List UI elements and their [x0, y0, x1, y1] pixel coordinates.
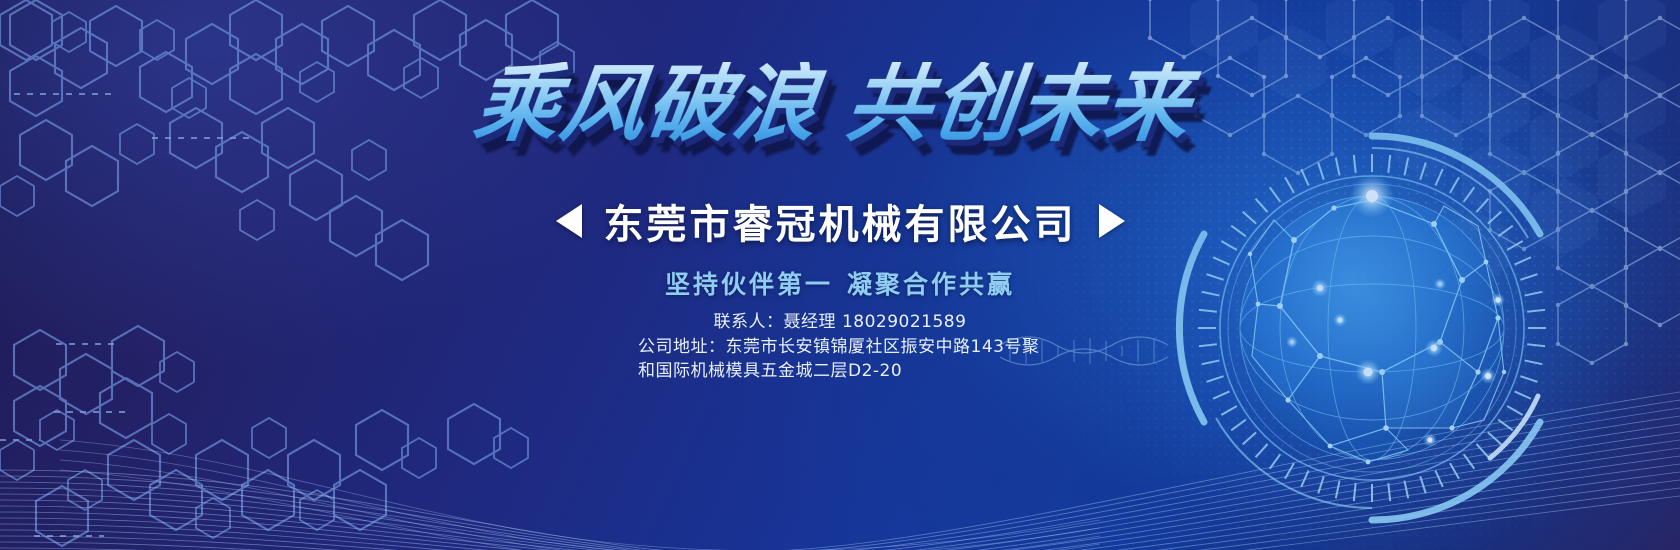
right-triangle-icon	[1099, 204, 1125, 238]
slogan-row: 坚持伙伴第一凝聚合作共赢	[0, 265, 1680, 301]
headline-part-2: 共创未来	[841, 55, 1197, 153]
slogan: 坚持伙伴第一凝聚合作共赢	[665, 270, 1015, 299]
company-name-row: 东莞市睿冠机械有限公司	[0, 192, 1680, 250]
promotional-banner: 乘风破浪共创未来 东莞市睿冠机械有限公司 坚持伙伴第一凝聚合作共赢 联系人：聂经…	[0, 0, 1680, 550]
slogan-part-2: 凝聚合作共赢	[847, 270, 1015, 299]
slogan-part-1: 坚持伙伴第一	[665, 270, 833, 299]
company-name: 东莞市睿冠机械有限公司	[604, 192, 1077, 250]
headline-part-1: 乘风破浪	[469, 55, 825, 153]
company-address-line: 公司地址：东莞市长安镇锦厦社区振安中路143号聚和国际机械模具五金城二层D2-2…	[630, 335, 1050, 384]
contact-person-line: 联系人：聂经理 18029021589	[0, 310, 1680, 335]
left-triangle-icon	[556, 204, 582, 238]
page-headline: 乘风破浪共创未来	[470, 62, 1211, 148]
contact-block: 联系人：聂经理 18029021589 公司地址：东莞市长安镇锦厦社区振安中路1…	[0, 310, 1680, 384]
address-label: 公司地址：	[638, 337, 726, 357]
